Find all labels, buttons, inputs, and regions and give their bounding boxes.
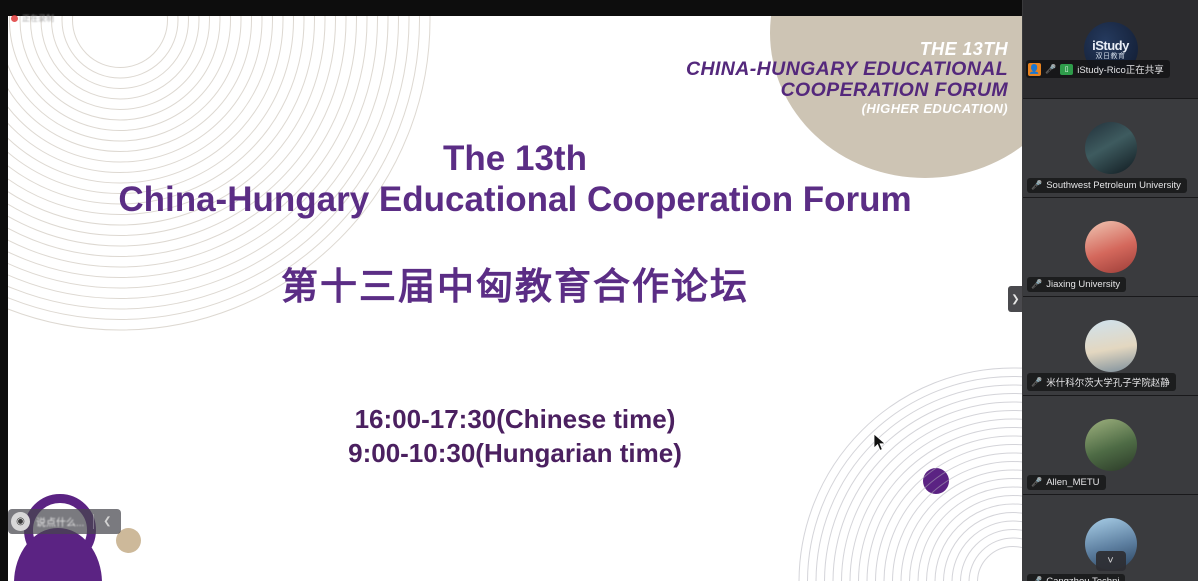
avatar (1085, 419, 1137, 471)
slide-time-block: 16:00-17:30(Chinese time) 9:00-10:30(Hun… (8, 402, 1022, 471)
participant-name-label: Cangzhou Techni (1046, 576, 1119, 581)
view-options-icon[interactable]: ◉ (11, 512, 30, 531)
recording-dot-icon (11, 15, 18, 22)
slide-header-line1: THE 13TH (686, 40, 1008, 59)
mic-muted-icon: 🎤 (1031, 577, 1042, 581)
panel-collapse-handle[interactable]: ❯ (1008, 286, 1022, 312)
sharing-status-label: iStudy-Rico正在共享 (1077, 62, 1164, 76)
participant-name-label: Allen_METU (1046, 477, 1099, 488)
scroll-down-button[interactable]: ˅ (1096, 551, 1126, 571)
mic-muted-icon: 🎤 (1031, 280, 1042, 289)
chevron-down-icon: ˅ (1107, 555, 1113, 567)
participant-tile-list[interactable]: iStudy双日教育🎤Southwest Petroleum Universit… (1023, 0, 1198, 581)
toolbar-divider (93, 514, 94, 529)
logo-mark-text: iStudy (1092, 39, 1129, 52)
shared-screen-area[interactable]: THE 13TH CHINA-HUNGARY EDUCATIONAL COOPE… (0, 0, 1022, 581)
slide-header-line3: COOPERATION FORUM (686, 80, 1008, 101)
slide-time-chinese: 16:00-17:30(Chinese time) (8, 402, 1022, 436)
participant-tile[interactable]: 🎤Jiaxing University (1023, 198, 1198, 297)
avatar (1085, 320, 1137, 372)
recording-label: 正在录制 (22, 13, 54, 24)
avatar (1085, 221, 1137, 273)
mic-muted-icon: 🎤 (1045, 65, 1056, 74)
recording-indicator: 正在录制 (11, 13, 54, 24)
participant-name-tag: 🎤Southwest Petroleum University (1027, 178, 1187, 193)
participant-name-label: Southwest Petroleum University (1046, 180, 1181, 191)
person-icon: 👤 (1028, 63, 1041, 76)
slide-title-block: The 13th China-Hungary Educational Coope… (8, 138, 1022, 310)
participant-name-tag: 🎤Allen_METU (1027, 475, 1106, 490)
presentation-slide: THE 13TH CHINA-HUNGARY EDUCATIONAL COOPE… (8, 16, 1022, 581)
participant-tile[interactable]: 🎤米什科尔茨大学孔子学院赵静 (1023, 297, 1198, 396)
mic-muted-icon: 🎤 (1031, 181, 1042, 190)
logo-subtitle-text: 双日教育 (1096, 53, 1126, 60)
participant-name-label: 米什科尔茨大学孔子学院赵静 (1046, 375, 1170, 389)
mic-muted-icon: 🎤 (1031, 478, 1042, 487)
slide-title-english-line2: China-Hungary Educational Cooperation Fo… (8, 179, 1022, 220)
mic-muted-icon: 🎤 (1031, 378, 1042, 387)
slide-title-chinese: 第十三届中匈教育合作论坛 (8, 256, 1022, 310)
screen-share-icon: ▯ (1060, 64, 1073, 75)
participant-name-tag: 🎤Cangzhou Techni (1027, 574, 1125, 581)
participant-name-label: Jiaxing University (1046, 279, 1120, 290)
participant-tile[interactable]: 🎤Southwest Petroleum University (1023, 99, 1198, 198)
purple-dot-decoration (923, 468, 949, 494)
toolbar-chat-label[interactable]: 说点什么... (32, 514, 91, 529)
mouse-pointer-icon (874, 434, 886, 452)
chevron-left-icon[interactable]: ❮ (96, 509, 118, 534)
chevron-right-icon: ❯ (1011, 294, 1019, 305)
slide-time-hungarian: 9:00-10:30(Hungarian time) (8, 436, 1022, 470)
meeting-window: THE 13TH CHINA-HUNGARY EDUCATIONAL COOPE… (0, 0, 1198, 581)
avatar (1085, 122, 1137, 174)
slide-header-line2: CHINA-HUNGARY EDUCATIONAL (686, 59, 1008, 80)
slide-title-english-line1: The 13th (8, 138, 1022, 179)
slide-header-block: THE 13TH CHINA-HUNGARY EDUCATIONAL COOPE… (686, 40, 1008, 116)
screen-sharing-status: 👤 🎤 ▯ iStudy-Rico正在共享 (1026, 60, 1170, 78)
participant-tile[interactable]: iStudy双日教育 (1023, 0, 1198, 99)
participant-sidebar[interactable]: 👤 🎤 ▯ iStudy-Rico正在共享 iStudy双日教育🎤Southwe… (1022, 0, 1198, 581)
slide-header-line4: (HIGHER EDUCATION) (686, 102, 1008, 116)
floating-meeting-toolbar[interactable]: ◉ 说点什么... ❮ (8, 509, 121, 534)
participant-tile[interactable]: 🎤Allen_METU (1023, 396, 1198, 495)
participant-name-tag: 🎤Jiaxing University (1027, 277, 1126, 292)
participant-name-tag: 🎤米什科尔茨大学孔子学院赵静 (1027, 373, 1176, 391)
